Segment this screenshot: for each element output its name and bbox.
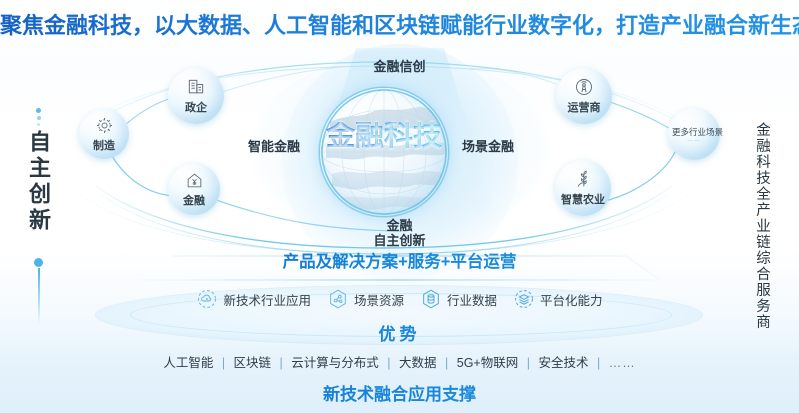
industry-node-label: 更多行业场景 xyxy=(672,127,716,137)
quadrant-label-bottom-line2: 自主创新 xyxy=(0,233,799,248)
quadrant-label-left: 智能金融 xyxy=(248,136,300,155)
industry-node-government[interactable]: 政企 xyxy=(168,68,224,124)
industry-node-label: 运营商 xyxy=(568,99,601,115)
globe-center-label: 金融科技 xyxy=(300,122,468,151)
tech-separator: | xyxy=(445,356,448,370)
advantage-label: 优势 xyxy=(0,320,799,345)
capability-label: 场景资源 xyxy=(354,290,404,309)
capability-item-platform-capability[interactable]: 平台化能力 xyxy=(513,288,603,310)
tech-separator: | xyxy=(387,356,390,370)
hexagon-network-icon xyxy=(327,288,349,310)
tech-item: 大数据 xyxy=(399,356,437,370)
government-building-icon xyxy=(186,77,206,97)
layers-circle-icon xyxy=(513,288,535,310)
industry-node-manufacturing[interactable]: 制造 xyxy=(79,109,129,159)
capability-label: 行业数据 xyxy=(447,290,497,309)
quadrant-label-bottom: 金融 自主创新 xyxy=(0,218,799,248)
cloud-circle-icon xyxy=(196,288,218,310)
industry-node-telecom[interactable]: 运营商 xyxy=(556,68,612,124)
capability-item-new-tech[interactable]: 新技术行业应用 xyxy=(196,288,311,310)
tech-item: 安全技术 xyxy=(538,356,588,370)
tech-separator: | xyxy=(597,356,600,370)
platform-headline: 产品及解决方案+服务+平台运营 xyxy=(0,248,799,272)
antenna-signal-icon xyxy=(574,77,594,97)
tech-item: 5G+物联网 xyxy=(457,356,518,370)
gear-icon xyxy=(95,116,114,135)
tech-item: 人工智能 xyxy=(163,356,213,370)
infographic-root: 聚焦金融科技，以大数据、人工智能和区块链赋能行业数字化，打造产业融合新生态 xyxy=(0,0,799,413)
industry-node-smart-agriculture[interactable]: 智慧农业 xyxy=(555,160,611,216)
industry-node-label: 政企 xyxy=(185,99,207,115)
wheat-icon xyxy=(573,169,593,189)
capability-row: 新技术行业应用 场景资源 xyxy=(0,288,799,310)
quadrant-label-bottom-line1: 金融 xyxy=(0,218,799,233)
left-vertical-label: 自主创新 xyxy=(22,130,54,234)
industry-node-more-scenes[interactable]: 更多行业场景 …… xyxy=(668,108,720,160)
left-decor-dots-top xyxy=(36,108,41,126)
quadrant-label-top: 金融信创 xyxy=(0,56,799,75)
tech-separator: | xyxy=(222,356,225,370)
globe-icon xyxy=(320,88,448,216)
more-scenes-icon: …… xyxy=(687,137,701,143)
money-house-icon xyxy=(185,171,204,190)
hexagon-data-icon xyxy=(420,288,442,310)
quadrant-label-right: 场景金融 xyxy=(462,136,514,155)
industry-node-label: 智慧农业 xyxy=(561,191,605,207)
page-title: 聚焦金融科技，以大数据、人工智能和区块链赋能行业数字化，打造产业融合新生态 xyxy=(0,8,799,40)
industry-node-label: 金融 xyxy=(183,192,205,208)
capability-item-industry-data[interactable]: 行业数据 xyxy=(420,288,497,310)
tech-ellipsis: …… xyxy=(609,356,636,370)
industry-node-label: 制造 xyxy=(93,137,115,153)
tech-separator: | xyxy=(527,356,530,370)
capability-label: 新技术行业应用 xyxy=(223,290,311,309)
tech-item: 区块链 xyxy=(234,356,272,370)
capability-label: 平台化能力 xyxy=(540,290,603,309)
tech-separator: | xyxy=(280,356,283,370)
technology-list: 人工智能 | 区块链 | 云计算与分布式 | 大数据 | 5G+物联网 | 安全… xyxy=(0,352,799,371)
footer-headline: 新技术融合应用支撑 xyxy=(0,380,799,405)
tech-item: 云计算与分布式 xyxy=(291,356,379,370)
industry-node-finance[interactable]: 金融 xyxy=(168,163,220,215)
capability-item-scene-resources[interactable]: 场景资源 xyxy=(327,288,404,310)
